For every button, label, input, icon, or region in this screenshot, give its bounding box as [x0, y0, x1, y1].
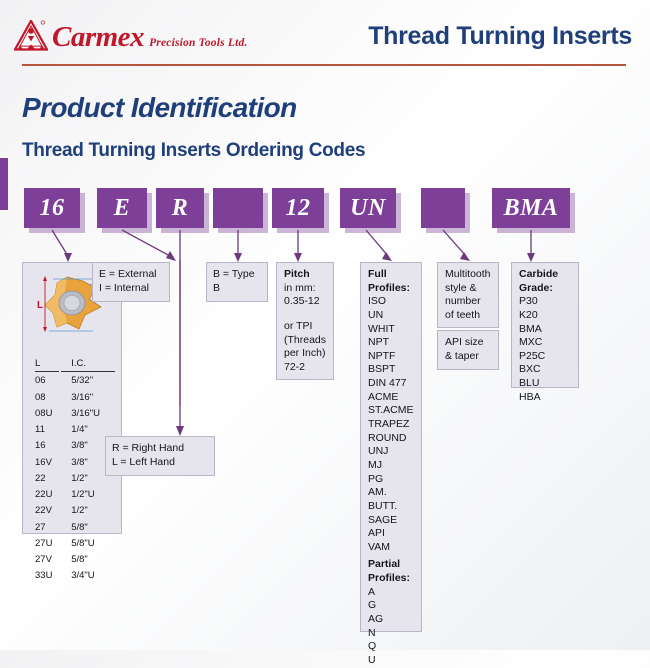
info-line: style & [445, 282, 491, 296]
full-profiles-heading: Profiles: [368, 282, 414, 296]
size-table-cell: 22 [35, 472, 59, 486]
header-divider [22, 64, 626, 66]
info-line: 72-2 [284, 361, 326, 375]
size-table-cell: 3/4"U [61, 569, 115, 583]
page-header: Carmex Precision Tools Ltd. Thread Turni… [0, 0, 650, 68]
info-line: in mm: [284, 282, 326, 296]
page-title: Thread Turning Inserts [368, 22, 632, 51]
size-table-cell: 27V [35, 553, 59, 567]
size-table-row: 16V3/8" [35, 456, 115, 470]
profile-item: MJ [368, 459, 414, 473]
section-subtitle: Thread Turning Inserts Ordering Codes [22, 140, 365, 162]
connector-arrows [0, 226, 650, 266]
size-table-cell: 06 [35, 374, 59, 388]
info-line: Multitooth [445, 268, 491, 282]
partial-profile-item: U [368, 654, 414, 668]
multitooth-box: Multitooth style & number of teeth [437, 262, 499, 328]
size-table-cell: 16 [35, 439, 59, 453]
profile-item: UNJ [368, 445, 414, 459]
info-line: or TPI [284, 320, 326, 334]
grade-item: K20 [519, 309, 571, 323]
size-table-cell: 5/8" [61, 553, 115, 567]
code-box-type[interactable] [213, 188, 263, 228]
partial-profile-item: N [368, 627, 414, 641]
carbide-grade-box: Carbide Grade: P30K20BMAMXCP25CBXCBLUHBA [511, 262, 579, 388]
size-table-row: 083/16" [35, 391, 115, 405]
info-line: (Threads [284, 334, 326, 348]
partial-profile-item: A [368, 586, 414, 600]
profile-item: ROUND [368, 432, 414, 446]
pitch-box: Pitch in mm: 0.35-12 or TPI (Threads per… [276, 262, 334, 380]
code-box-hand[interactable]: R [156, 188, 204, 228]
grade-item: BXC [519, 363, 571, 377]
code-box-label: E [114, 195, 131, 222]
info-line: 0.35-12 [284, 295, 326, 309]
code-box-internal-external[interactable]: E [97, 188, 147, 228]
internal-external-box: E = External I = Internal [92, 262, 170, 302]
size-table-header-cell: I.C. [61, 357, 115, 372]
carmex-triangle-logo-icon [14, 20, 48, 52]
code-box-pitch[interactable]: 12 [272, 188, 324, 228]
size-table-cell: 16V [35, 456, 59, 470]
profile-item: VAM [368, 541, 414, 555]
size-table-cell: 1/2" [61, 504, 115, 518]
profile-item: ACME [368, 391, 414, 405]
info-line: API size [445, 336, 491, 350]
size-table-row: 08U3/16"U [35, 407, 115, 421]
code-box-label: UN [350, 195, 386, 222]
product-identification-page: Carmex Precision Tools Ltd. Thread Turni… [0, 0, 650, 650]
profile-item: API [368, 527, 414, 541]
profile-item: NPTF [368, 350, 414, 364]
insert-size-box: L I.C. LI.C.065/32"083/16"08U3/16"U111/4… [22, 262, 122, 534]
grade-item: P25C [519, 350, 571, 364]
type-b-box: B = Type B [206, 262, 268, 302]
partial-profiles-heading: Partial [368, 558, 414, 572]
profile-item: TRAPEZ [368, 418, 414, 432]
partial-profile-item: AG [368, 613, 414, 627]
info-line: & taper [445, 350, 491, 364]
info-line: E = External [99, 268, 163, 282]
size-table-cell: 08 [35, 391, 59, 405]
size-table-cell: 22V [35, 504, 59, 518]
code-box-grade[interactable]: BMA [492, 188, 570, 228]
info-line: R = Right Hand [112, 442, 208, 456]
size-table-header-cell: L [35, 357, 59, 372]
grade-item: MXC [519, 336, 571, 350]
size-table-cell: 5/8"U [61, 537, 115, 551]
profile-item: AM. BUTT. [368, 486, 414, 513]
profile-item: NPT [368, 336, 414, 350]
size-table-cell: 3/16"U [61, 407, 115, 421]
profile-item: UN [368, 309, 414, 323]
info-line: I = Internal [99, 282, 163, 296]
code-box-label: 12 [286, 195, 311, 222]
code-box-profile[interactable]: UN [340, 188, 396, 228]
grade-item: BLU [519, 377, 571, 391]
size-table-row: 221/2" [35, 472, 115, 486]
brand-tagline: Precision Tools Ltd. [149, 37, 247, 49]
size-table-cell: 1/2"U [61, 488, 115, 502]
grade-item: HBA [519, 391, 571, 405]
code-box-multitooth[interactable] [421, 188, 465, 228]
partial-profiles-heading: Profiles: [368, 572, 414, 586]
size-table-cell: 27U [35, 537, 59, 551]
size-table-cell: 5/32" [61, 374, 115, 388]
info-line: L = Left Hand [112, 456, 208, 470]
info-line: per Inch) [284, 347, 326, 361]
code-box-label: BMA [504, 195, 559, 222]
code-box-size[interactable]: 16 [24, 188, 80, 228]
profile-item: WHIT [368, 323, 414, 337]
size-table-cell: 22U [35, 488, 59, 502]
partial-profile-item: Q [368, 640, 414, 654]
partial-profile-item: G [368, 599, 414, 613]
size-table-row: 27V5/8" [35, 553, 115, 567]
info-line: number [445, 295, 491, 309]
carmex-logo: Carmex Precision Tools Ltd. [14, 20, 248, 52]
size-table-cell: 11 [35, 423, 59, 437]
size-table-cell: 27 [35, 521, 59, 535]
left-accent-bar [0, 158, 8, 210]
size-table-row: 22V1/2" [35, 504, 115, 518]
size-table-row: 111/4" [35, 423, 115, 437]
section-title: Product Identification [22, 92, 297, 124]
size-table-cell: 08U [35, 407, 59, 421]
profiles-box: Full Profiles: ISOUNWHITNPTNPTFBSPTDIN 4… [360, 262, 422, 632]
size-table-cell: 33U [35, 569, 59, 583]
size-table-row: 275/8" [35, 521, 115, 535]
info-line: of teeth [445, 309, 491, 323]
size-table-row: 27U5/8"U [35, 537, 115, 551]
brand-name: Carmex [52, 23, 144, 52]
full-profiles-heading: Full [368, 268, 414, 282]
svg-text:L: L [37, 300, 43, 311]
grade-heading: Grade: [519, 282, 571, 296]
code-box-label: R [172, 195, 189, 222]
size-table-cell: 5/8" [61, 521, 115, 535]
profile-item: PG [368, 473, 414, 487]
size-table-row: 163/8" [35, 439, 115, 453]
size-table-cell: 3/16" [61, 391, 115, 405]
code-box-label: 16 [40, 195, 65, 222]
right-left-hand-box: R = Right Hand L = Left Hand [105, 436, 215, 476]
profile-item: ST.ACME [368, 404, 414, 418]
profile-item: SAGE [368, 514, 414, 528]
profile-item: ISO [368, 295, 414, 309]
grade-item: P30 [519, 295, 571, 309]
size-table-row: 065/32" [35, 374, 115, 388]
size-table-row: 33U3/4"U [35, 569, 115, 583]
pitch-heading: Pitch [284, 268, 326, 282]
profile-item: DIN 477 [368, 377, 414, 391]
size-table-row: 22U1/2"U [35, 488, 115, 502]
info-line: B = Type B [213, 268, 261, 296]
grade-heading: Carbide [519, 268, 571, 282]
profile-item: BSPT [368, 363, 414, 377]
api-size-box: API size & taper [437, 330, 499, 370]
size-table-header-row: LI.C. [35, 357, 115, 372]
grade-item: BMA [519, 323, 571, 337]
